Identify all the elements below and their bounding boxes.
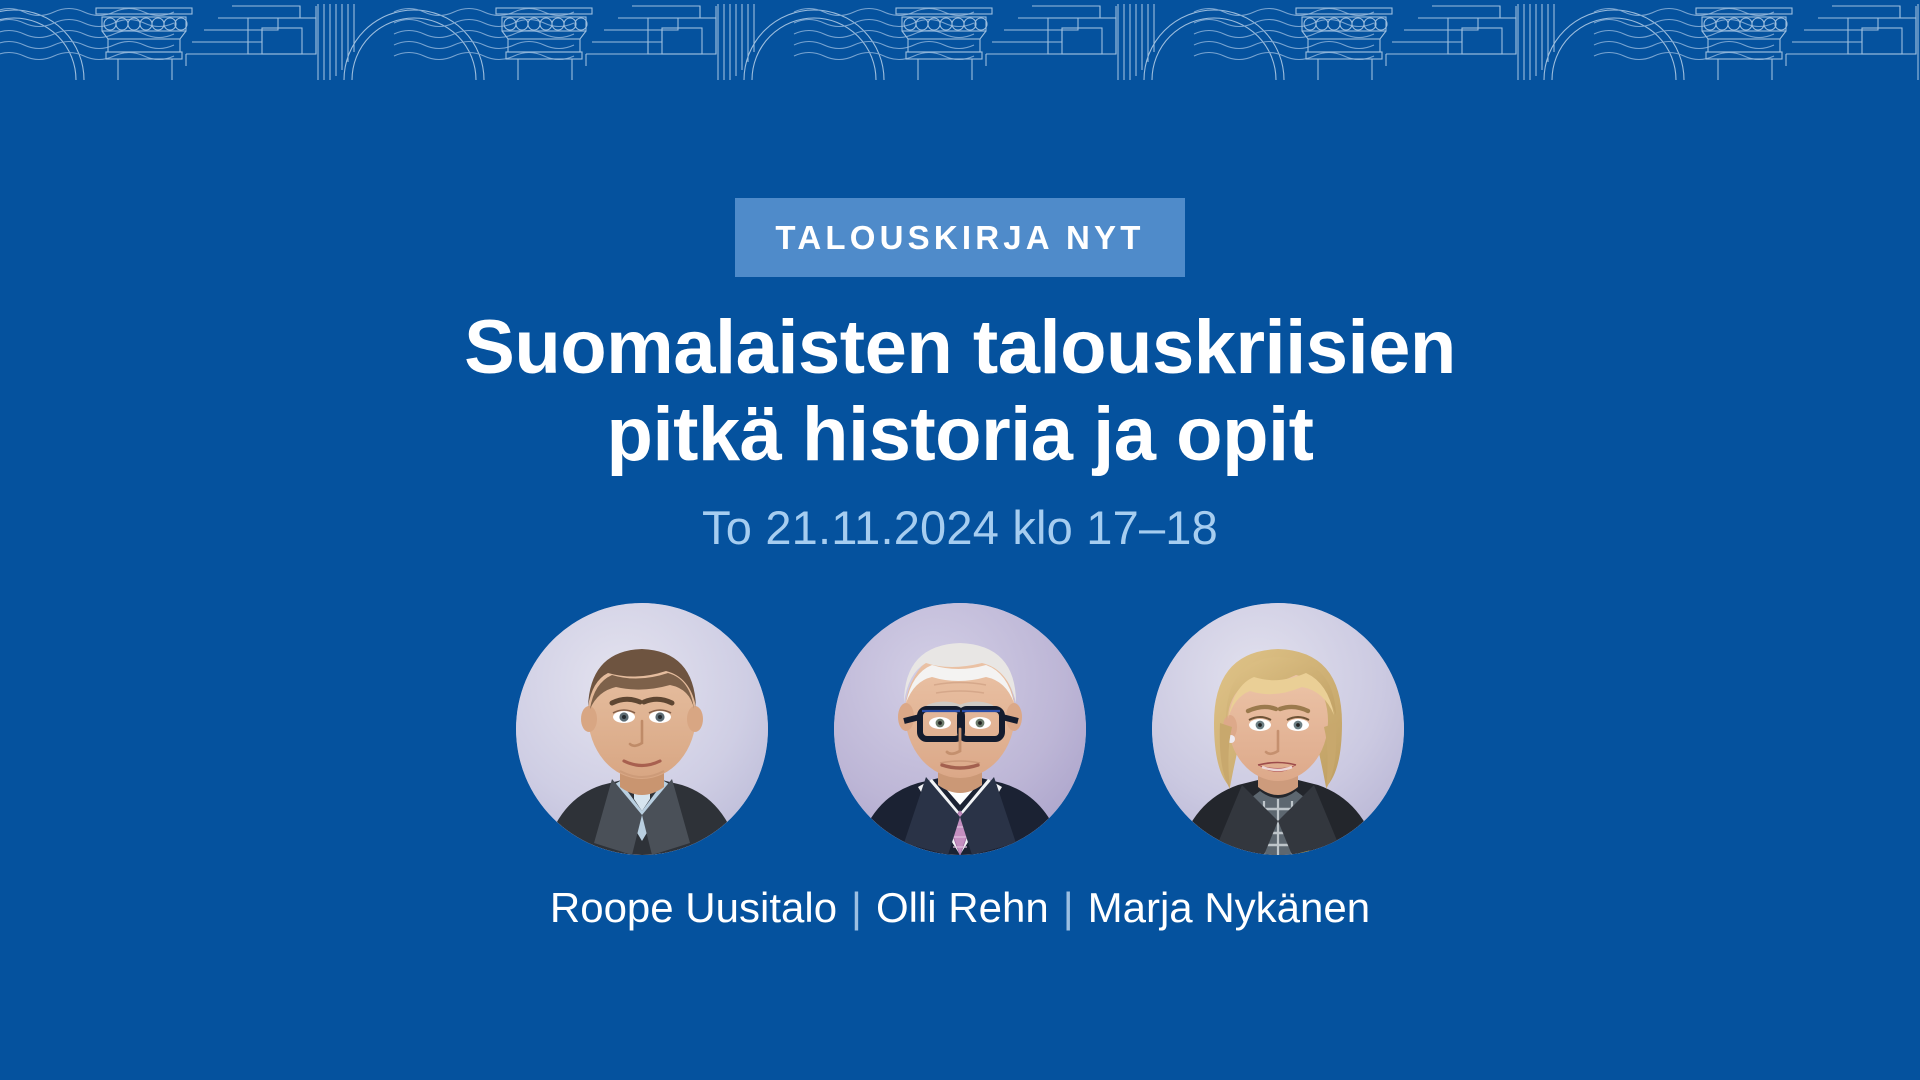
page-title: Suomalaisten talouskriisien pitkä histor… [464, 305, 1456, 478]
speaker-name-1: Roope Uusitalo [550, 887, 837, 929]
banner-content: TALOUSKIRJA NYT Suomalaisten talouskriis… [0, 0, 1920, 1080]
speaker-name-separator: | [1049, 887, 1088, 929]
series-badge: TALOUSKIRJA NYT [735, 198, 1184, 277]
event-datetime: To 21.11.2024 klo 17–18 [702, 504, 1218, 551]
event-banner: TALOUSKIRJA NYT Suomalaisten talouskriis… [0, 0, 1920, 1080]
speaker-name-2: Olli Rehn [876, 887, 1049, 929]
speaker-name-3: Marja Nykänen [1088, 887, 1370, 929]
portrait-roope-uusitalo [516, 603, 768, 855]
speaker-name-separator: | [837, 887, 876, 929]
portrait-olli-rehn [834, 603, 1086, 855]
speaker-names: Roope Uusitalo | Olli Rehn | Marja Nykän… [550, 887, 1370, 929]
speaker-portrait-row [516, 603, 1404, 855]
portrait-marja-nykanen [1152, 603, 1404, 855]
series-badge-label: TALOUSKIRJA NYT [775, 221, 1144, 254]
page-title-line-2: pitkä historia ja opit [464, 392, 1456, 479]
page-title-line-1: Suomalaisten talouskriisien [464, 305, 1456, 392]
